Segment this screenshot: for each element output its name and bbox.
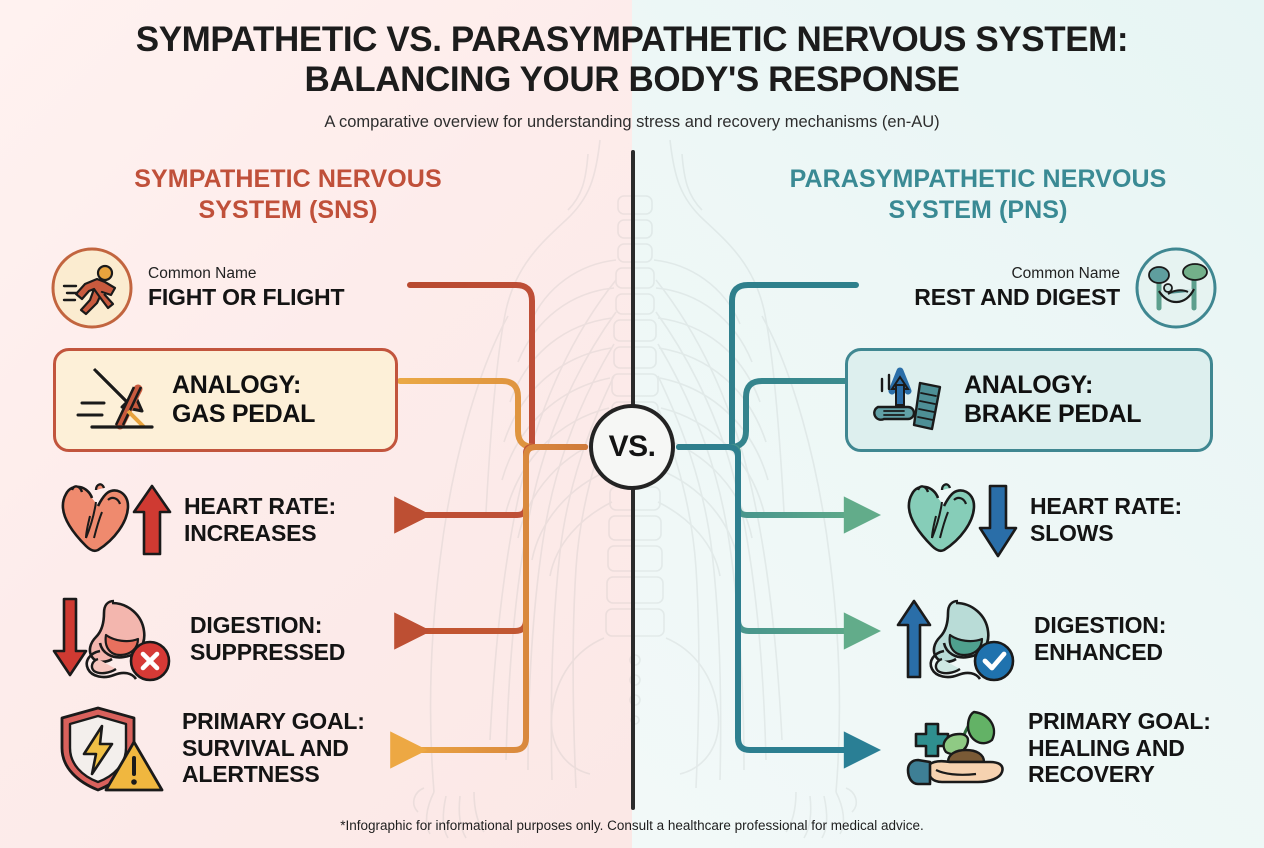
right-digestion-line1: DIGESTION:: [1034, 612, 1166, 639]
left-analogy-line2: GAS PEDAL: [172, 400, 315, 429]
right-analogy-line2: BRAKE PEDAL: [964, 400, 1141, 429]
left-common-name-kicker: Common Name: [148, 265, 344, 282]
gas-pedal-icon: [72, 363, 158, 437]
hand-plant-cross-icon: [898, 700, 1016, 796]
stomach-down-arrow-cross-icon: [46, 593, 180, 685]
right-heart-rate-line2: SLOWS: [1030, 520, 1182, 547]
right-common-name-labels: Common Name REST AND DIGEST: [848, 265, 1120, 311]
stomach-up-arrow-check-icon: [890, 593, 1024, 685]
left-common-name-row: Common Name FIGHT OR FLIGHT: [50, 246, 344, 330]
right-column-heading-line2: SYSTEM (PNS): [758, 195, 1198, 226]
page-title: SYMPATHETIC VS. PARASYMPATHETIC NERVOUS …: [0, 20, 1264, 100]
right-heart-rate-row: HEART RATE: SLOWS: [898, 478, 1182, 562]
right-analogy-box: ANALOGY: BRAKE PEDAL: [845, 348, 1213, 452]
right-digestion-labels: DIGESTION: ENHANCED: [1034, 612, 1166, 665]
hammock-trees-icon: [1134, 246, 1218, 330]
left-digestion-line1: DIGESTION:: [190, 612, 345, 639]
left-heart-rate-labels: HEART RATE: INCREASES: [184, 493, 336, 546]
left-common-name-value: FIGHT OR FLIGHT: [148, 284, 344, 311]
left-common-name-labels: Common Name FIGHT OR FLIGHT: [148, 265, 344, 311]
right-analogy-line1: ANALOGY:: [964, 371, 1141, 400]
right-heart-rate-line1: HEART RATE:: [1030, 493, 1182, 520]
right-primary-goal-line1: PRIMARY GOAL:: [1028, 708, 1211, 735]
left-column-heading-line1: SYMPATHETIC NERVOUS: [68, 164, 508, 195]
right-primary-goal-labels: PRIMARY GOAL: HEALING AND RECOVERY: [1028, 708, 1211, 788]
right-column-heading: PARASYMPATHETIC NERVOUS SYSTEM (PNS): [758, 164, 1198, 225]
page-subtitle: A comparative overview for understanding…: [0, 113, 1264, 132]
left-primary-goal-labels: PRIMARY GOAL: SURVIVAL AND ALERTNESS: [182, 708, 365, 788]
right-primary-goal-line2: HEALING AND: [1028, 735, 1211, 762]
right-digestion-row: DIGESTION: ENHANCED: [890, 593, 1166, 685]
page-title-line1: SYMPATHETIC VS. PARASYMPATHETIC NERVOUS …: [0, 20, 1264, 60]
left-analogy-line1: ANALOGY:: [172, 371, 315, 400]
left-heart-rate-line1: HEART RATE:: [184, 493, 336, 520]
infographic-canvas: SYMPATHETIC VS. PARASYMPATHETIC NERVOUS …: [0, 0, 1264, 848]
right-digestion-line2: ENHANCED: [1034, 639, 1166, 666]
right-column-heading-line1: PARASYMPATHETIC NERVOUS: [758, 164, 1198, 195]
right-primary-goal-row: PRIMARY GOAL: HEALING AND RECOVERY: [898, 700, 1211, 796]
left-digestion-row: DIGESTION: SUPPRESSED: [46, 593, 345, 685]
vs-label: VS.: [609, 430, 656, 464]
footer-disclaimer: *Infographic for informational purposes …: [0, 818, 1264, 833]
left-primary-goal-line2: SURVIVAL AND: [182, 735, 365, 762]
left-heart-rate-row: HEART RATE: INCREASES: [52, 478, 336, 562]
vs-badge: VS.: [589, 404, 675, 490]
right-heart-rate-labels: HEART RATE: SLOWS: [1030, 493, 1182, 546]
left-primary-goal-line1: PRIMARY GOAL:: [182, 708, 365, 735]
running-person-icon: [50, 246, 134, 330]
left-primary-goal-row: PRIMARY GOAL: SURVIVAL AND ALERTNESS: [52, 700, 365, 796]
header: SYMPATHETIC VS. PARASYMPATHETIC NERVOUS …: [0, 20, 1264, 132]
left-heart-rate-line2: INCREASES: [184, 520, 336, 547]
right-primary-goal-line3: RECOVERY: [1028, 761, 1211, 788]
right-common-name-value: REST AND DIGEST: [914, 284, 1120, 311]
left-column-heading: SYMPATHETIC NERVOUS SYSTEM (SNS): [68, 164, 508, 225]
right-common-name-kicker: Common Name: [1011, 265, 1120, 282]
page-title-line2: BALANCING YOUR BODY'S RESPONSE: [0, 60, 1264, 100]
heart-down-arrow-icon: [898, 478, 1018, 562]
left-primary-goal-line3: ALERTNESS: [182, 761, 365, 788]
shield-lightning-warning-icon: [52, 700, 170, 796]
heart-up-arrow-icon: [52, 478, 172, 562]
left-column-heading-line2: SYSTEM (SNS): [68, 195, 508, 226]
brake-pedal-icon: [864, 363, 950, 437]
left-digestion-labels: DIGESTION: SUPPRESSED: [190, 612, 345, 665]
right-analogy-text: ANALOGY: BRAKE PEDAL: [964, 371, 1141, 430]
left-digestion-line2: SUPPRESSED: [190, 639, 345, 666]
right-common-name-row: Common Name REST AND DIGEST: [848, 246, 1218, 330]
left-analogy-box: ANALOGY: GAS PEDAL: [53, 348, 398, 452]
left-analogy-text: ANALOGY: GAS PEDAL: [172, 371, 315, 430]
